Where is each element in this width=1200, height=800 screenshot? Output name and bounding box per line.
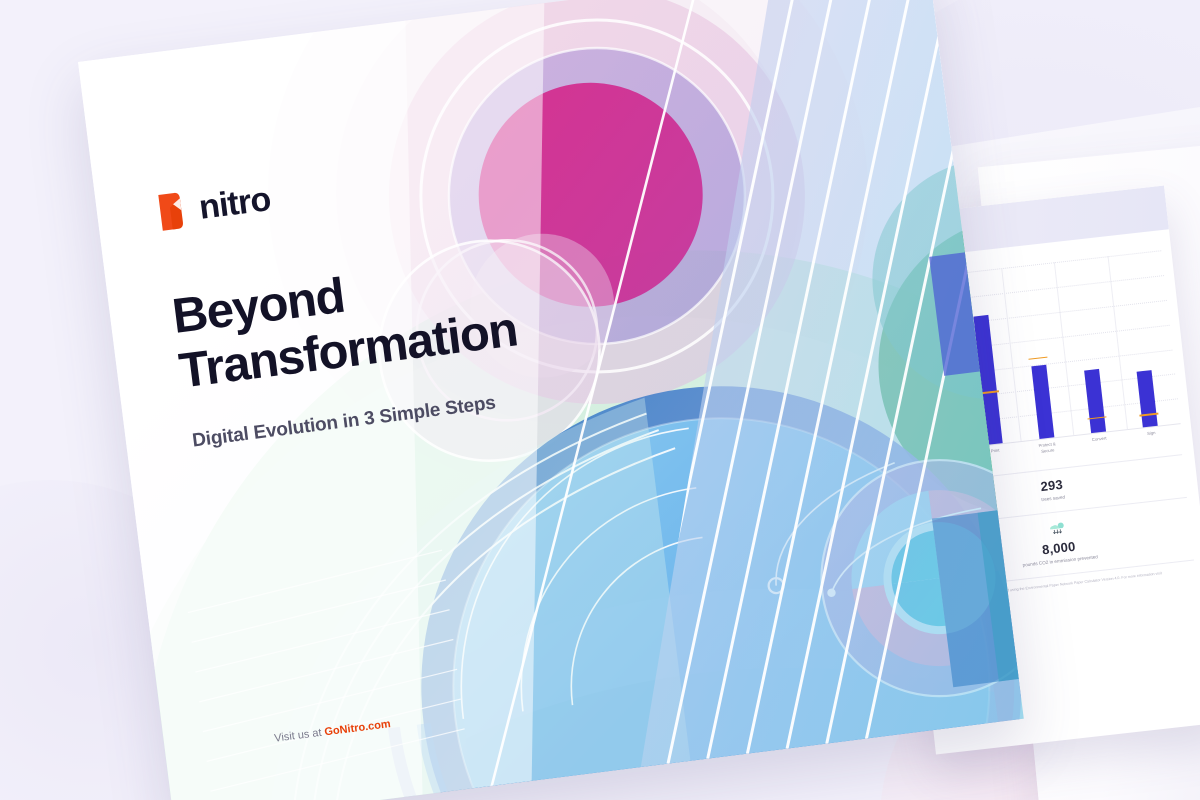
benchmark-line [1088, 416, 1107, 420]
benchmark-line [1028, 356, 1047, 360]
bar-group [1072, 259, 1106, 434]
bar-group [1124, 253, 1158, 428]
bar-group [1020, 264, 1054, 439]
nitro-wordmark: nitro [197, 180, 273, 228]
nitro-n-mark-icon [155, 189, 193, 233]
cover-abstract-artwork [78, 0, 1024, 800]
benchmark-line [1140, 413, 1159, 417]
ebook-cover: nitro Beyond Transformation Digital Evol… [78, 0, 1024, 800]
cloud-co2-icon [1045, 520, 1069, 538]
scene-background: ing rmed culator o's Feature Adoption [0, 0, 1200, 800]
